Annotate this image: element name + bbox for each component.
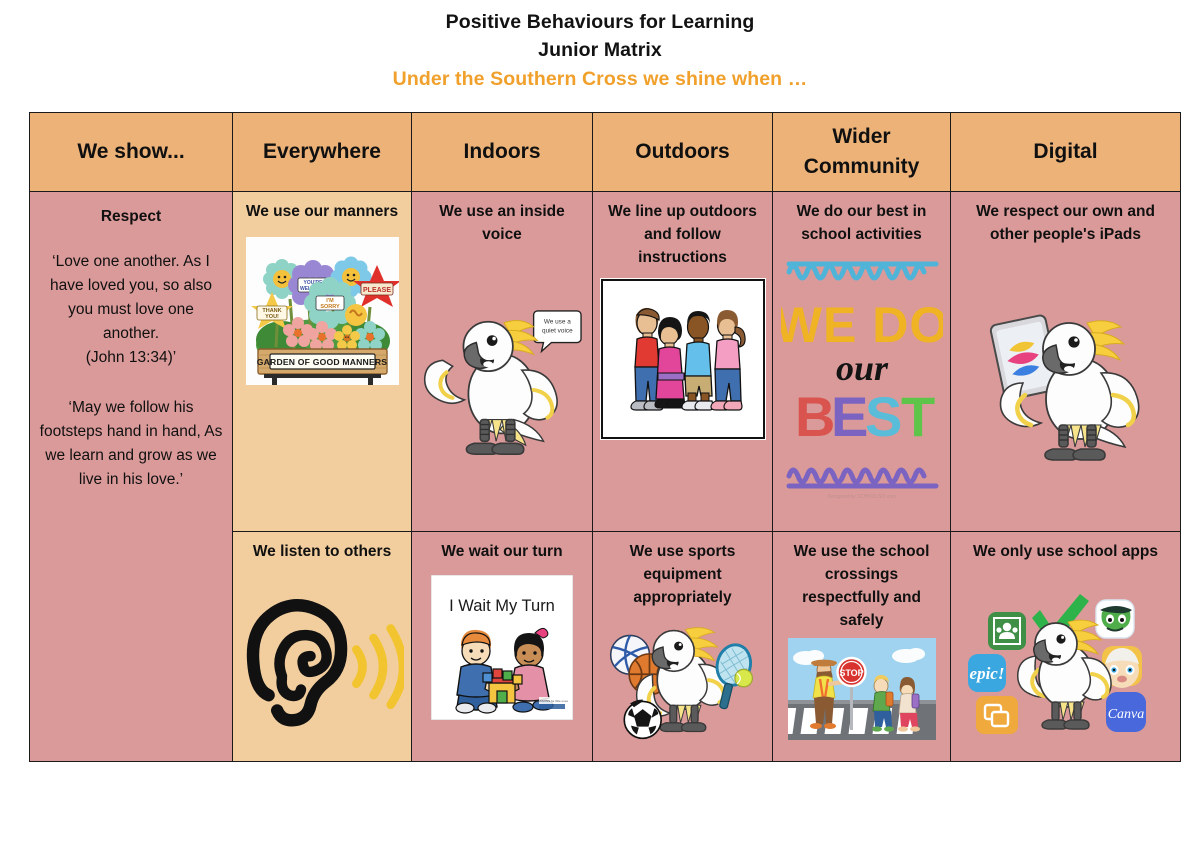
art-cockatoo-sports-equipment bbox=[600, 609, 765, 755]
respect-scripture: ‘Love one another. As I have loved you, … bbox=[39, 250, 223, 370]
seesaw-app-icon bbox=[976, 696, 1018, 734]
cell-everywhere-manners: We use our manners bbox=[233, 192, 412, 532]
matrix-header-row: We show... Everywhere Indoors Outdoors W… bbox=[30, 113, 1181, 192]
svg-text:B: B bbox=[795, 385, 835, 448]
cell-label: We wait our turn bbox=[419, 540, 585, 563]
page-subtitle: Junior Matrix bbox=[0, 36, 1200, 64]
cockatoo-sports-icon bbox=[600, 618, 765, 746]
page-tagline: Under the Southern Cross we shine when … bbox=[0, 64, 1200, 94]
svg-text:STOP: STOP bbox=[839, 668, 863, 678]
art-ear-listening bbox=[240, 563, 404, 755]
svg-text:LESSONS for little ones: LESSONS for little ones bbox=[536, 699, 569, 703]
cell-respect-value: Respect ‘Love one another. As I have lov… bbox=[30, 192, 233, 762]
school-crossing-icon: STOP bbox=[788, 638, 936, 740]
google-classroom-icon bbox=[988, 612, 1026, 650]
i-wait-my-turn-icon: I Wait My Turn bbox=[431, 575, 573, 720]
svg-text:We use a: We use a bbox=[544, 319, 571, 326]
children-lining-up-icon bbox=[601, 279, 765, 439]
cell-indoors-wait-turn: We wait our turn I Wait My Turn bbox=[412, 531, 593, 761]
school-apps-icon: epic! bbox=[966, 580, 1166, 738]
svg-text:PLEASE: PLEASE bbox=[362, 287, 390, 294]
svg-text:Canva: Canva bbox=[1107, 707, 1144, 722]
svg-text:Designed by SCHOOLSO.com: Designed by SCHOOLSO.com bbox=[827, 494, 895, 500]
svg-text:T: T bbox=[901, 385, 935, 448]
ear-icon bbox=[240, 579, 404, 739]
cell-wider-community-crossings: We use the school crossings respectfully… bbox=[773, 531, 951, 761]
cell-label: We do our best in school activities bbox=[780, 200, 943, 246]
cell-outdoors-line-up: We line up outdoors and follow instructi… bbox=[593, 192, 773, 532]
matrix-row-1: Respect ‘Love one another. As I have lov… bbox=[30, 192, 1181, 532]
cell-label: We respect our own and other people's iP… bbox=[958, 200, 1173, 246]
column-header-we-show: We show... bbox=[30, 113, 233, 192]
matrix-table: We show... Everywhere Indoors Outdoors W… bbox=[29, 112, 1181, 762]
cell-digital-respect-ipads: We respect our own and other people's iP… bbox=[951, 192, 1181, 532]
svg-text:quiet voice: quiet voice bbox=[542, 327, 573, 334]
behaviour-matrix: We show... Everywhere Indoors Outdoors W… bbox=[29, 112, 1180, 762]
tennis-ball-icon bbox=[735, 669, 752, 686]
cockatoo-icon: We use a quiet voice bbox=[419, 298, 585, 473]
column-header-outdoors: Outdoors bbox=[593, 113, 773, 192]
cell-label: We use the school crossings respectfully… bbox=[780, 540, 943, 632]
cell-label: We only use school apps bbox=[958, 540, 1173, 563]
column-header-digital: Digital bbox=[951, 113, 1181, 192]
svg-text:WE DO: WE DO bbox=[781, 297, 943, 353]
page-title-block: Positive Behaviours for Learning Junior … bbox=[0, 0, 1200, 94]
cell-label: We use our manners bbox=[240, 200, 404, 223]
art-children-lining-up bbox=[600, 279, 765, 439]
svg-text:epic!: epic! bbox=[969, 664, 1004, 683]
speech-bubble: We use a quiet voice bbox=[534, 311, 581, 352]
svg-text:SORRY: SORRY bbox=[320, 304, 340, 310]
svg-text:GARDEN OF GOOD MANNERS: GARDEN OF GOOD MANNERS bbox=[256, 357, 387, 367]
svg-text:our: our bbox=[835, 348, 888, 388]
cell-digital-school-apps: We only use school apps bbox=[951, 531, 1181, 761]
cell-wider-community-do-our-best: We do our best in school activities WE D… bbox=[773, 192, 951, 532]
garden-of-good-manners-icon: YOU'RE WELCOME bbox=[246, 237, 399, 385]
canva-app-icon: Canva bbox=[1106, 692, 1146, 732]
cell-label: We line up outdoors and follow instructi… bbox=[600, 200, 765, 269]
art-cockatoo-school-apps: epic! bbox=[958, 563, 1173, 755]
art-cockatoo-quiet-voice: We use a quiet voice bbox=[419, 246, 585, 525]
column-header-everywhere: Everywhere bbox=[233, 113, 412, 192]
cell-outdoors-sports-equipment: We use sports equipment appropriately bbox=[593, 531, 773, 761]
reading-app-icon bbox=[1096, 600, 1134, 638]
art-garden-of-good-manners: YOU'RE WELCOME bbox=[240, 237, 404, 385]
art-we-do-our-best-poster: WE DO our B E S T bbox=[780, 254, 943, 502]
cell-label: We use sports equipment appropriately bbox=[600, 540, 765, 609]
cockatoo-ipad-icon bbox=[971, 295, 1161, 475]
art-school-crossing-scene: STOP bbox=[780, 638, 943, 740]
svg-text:I Wait My Turn: I Wait My Turn bbox=[449, 597, 555, 615]
svg-text:S: S bbox=[865, 385, 902, 448]
art-i-wait-my-turn-card: I Wait My Turn bbox=[419, 575, 585, 720]
cell-everywhere-listen: We listen to others bbox=[233, 531, 412, 761]
respect-prayer: ‘May we follow his footsteps hand in han… bbox=[39, 396, 223, 492]
column-header-wider-community: Wider Community bbox=[773, 113, 951, 192]
respect-heading: Respect bbox=[101, 206, 161, 228]
column-header-indoors: Indoors bbox=[412, 113, 593, 192]
cell-label: We use an inside voice bbox=[419, 200, 585, 246]
svg-text:E: E bbox=[831, 385, 868, 448]
cell-indoors-inside-voice: We use an inside voice We use a quiet vo… bbox=[412, 192, 593, 532]
epic-app-icon: epic! bbox=[968, 654, 1006, 692]
page-title: Positive Behaviours for Learning bbox=[0, 8, 1200, 36]
we-do-our-best-poster-icon: WE DO our B E S T bbox=[781, 254, 943, 502]
art-cockatoo-with-ipad bbox=[958, 246, 1173, 525]
cell-label: We listen to others bbox=[240, 540, 404, 563]
svg-text:YOU!: YOU! bbox=[265, 314, 279, 320]
